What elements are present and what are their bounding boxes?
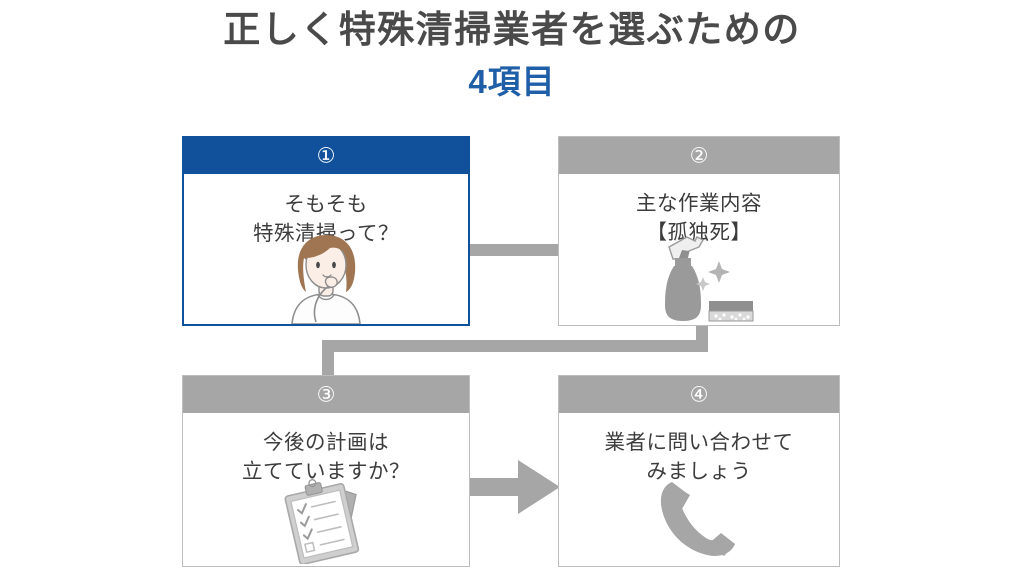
step-card-3[interactable]: ③ 今後の計画は 立てていますか？ (182, 375, 470, 567)
page-title: 正しく特殊清掃業者を選ぶための 4項目 (0, 6, 1024, 104)
telephone-handset-icon (559, 472, 839, 564)
card-4-number-badge: ④ (559, 384, 839, 405)
connector-card3-to-card4 (468, 456, 562, 518)
title-line-2: 4項目 (0, 60, 1024, 104)
card-1-body: そもそも 特殊清掃って？ (184, 176, 468, 324)
card-1-header: ① (184, 138, 468, 176)
thinking-woman-illustration (184, 232, 468, 324)
step-card-4[interactable]: ④ 業者に問い合わせて みましょう (558, 375, 840, 567)
clipboard-checklist-pen-illustration (183, 472, 469, 564)
connector-card2-to-card3 (300, 320, 720, 382)
card-4-body: 業者に問い合わせて みましょう (559, 414, 839, 564)
step-card-1[interactable]: ① そもそも 特殊清掃って？ (182, 136, 470, 326)
step-card-2[interactable]: ② 主な作業内容 【孤独死】 (558, 136, 840, 326)
card-4-header: ④ (559, 376, 839, 414)
card-3-header: ③ (183, 376, 469, 414)
title-line-1: 正しく特殊清掃業者を選ぶための (0, 6, 1024, 54)
card-2-number-badge: ② (559, 145, 839, 166)
spray-bottle-sponge-illustration (559, 231, 839, 323)
card-2-body: 主な作業内容 【孤独死】 (559, 175, 839, 323)
connector-card1-to-card2 (468, 244, 560, 256)
card-2-header: ② (559, 137, 839, 175)
slide-canvas: 正しく特殊清掃業者を選ぶための 4項目 ① そもそも 特殊清掃って？ (0, 0, 1024, 576)
card-3-body: 今後の計画は 立てていますか？ (183, 414, 469, 564)
card-1-number-badge: ① (184, 146, 468, 167)
card-3-number-badge: ③ (183, 384, 469, 405)
